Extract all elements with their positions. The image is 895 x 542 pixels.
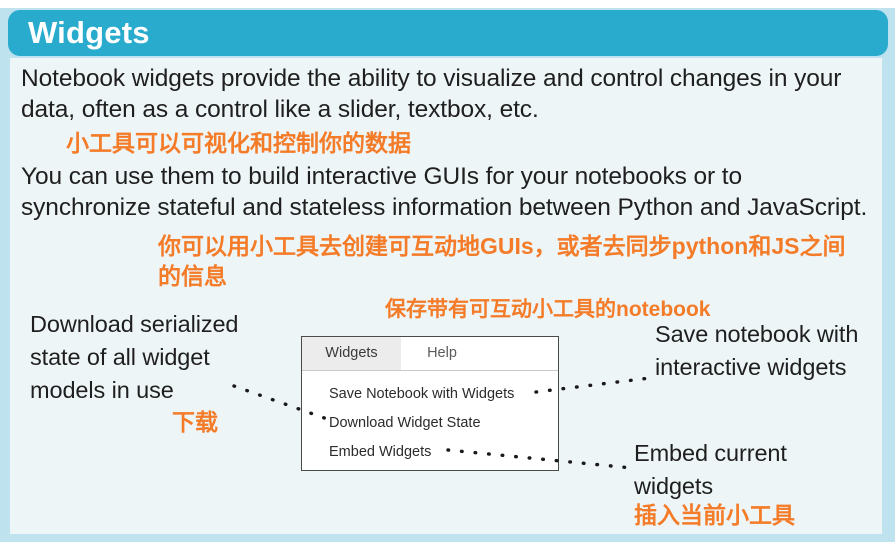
annotation-download: 下载: [172, 408, 218, 436]
body-paragraph-1: Notebook widgets provide the ability to …: [21, 63, 871, 125]
slide-canvas: Widgets Notebook widgets provide the abi…: [0, 0, 895, 542]
menu-item-embed-widgets[interactable]: Embed Widgets: [302, 438, 558, 467]
callout-download-state: Download serialized state of all widget …: [30, 308, 290, 407]
jupyter-widgets-menu[interactable]: Widgets Help Save Notebook with Widgets …: [301, 336, 559, 471]
annotation-visualize-control: 小工具可以可视化和控制你的数据: [66, 129, 411, 157]
annotation-build-guis: 你可以用小工具去创建可互动地GUIs，或者去同步python和JS之间的信息: [158, 231, 858, 291]
body-paragraph-2: You can use them to build interactive GU…: [21, 161, 871, 223]
menu-item-download-widget-state[interactable]: Download Widget State: [302, 409, 558, 438]
annotation-embed-widgets: 插入当前小工具: [634, 501, 795, 529]
tab-widgets[interactable]: Widgets: [302, 337, 401, 370]
slide-header-bar: Widgets: [8, 10, 888, 56]
menu-item-list: Save Notebook with Widgets Download Widg…: [302, 371, 558, 467]
menu-item-save-notebook-with-widgets[interactable]: Save Notebook with Widgets: [302, 380, 558, 409]
tab-help[interactable]: Help: [401, 337, 483, 370]
page-title: Widgets: [28, 14, 150, 52]
callout-embed-widgets: Embed current widgets: [634, 437, 869, 503]
callout-save-notebook: Save notebook with interactive widgets: [655, 318, 880, 384]
menu-tab-bar: Widgets Help: [302, 337, 558, 371]
